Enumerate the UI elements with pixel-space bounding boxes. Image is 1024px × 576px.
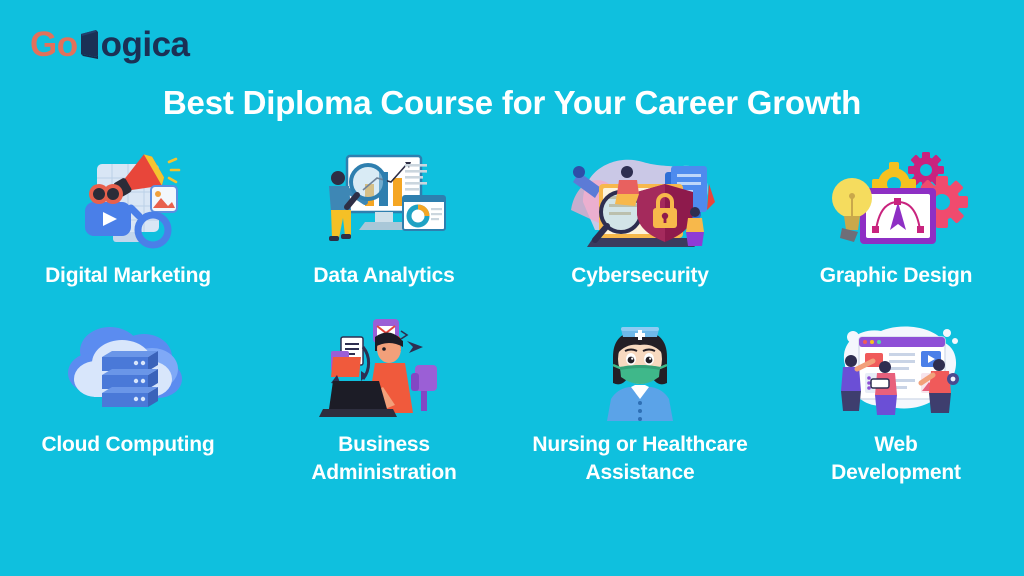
course-card-cybersecurity[interactable]: Cybersecurity: [512, 150, 768, 315]
course-card-graphic-design[interactable]: Graphic Design: [768, 150, 1024, 315]
course-label: Cloud Computing: [41, 431, 214, 459]
shield-padlock-laptop-icon: [576, 150, 704, 254]
brand-name-prefix: Go: [30, 27, 78, 62]
megaphone-marketing-icon: [64, 150, 192, 254]
course-label: Business Administration: [311, 431, 456, 486]
course-card-data-analytics[interactable]: Data Analytics: [256, 150, 512, 315]
brand-name-suffix: ogica: [101, 27, 190, 62]
brand-logo-text: Go ogica: [30, 27, 190, 62]
nurse-mask-icon: [576, 315, 704, 423]
book-glyph-icon: [79, 30, 100, 60]
office-worker-laptop-icon: [320, 315, 448, 423]
course-card-nursing-healthcare[interactable]: Nursing or Healthcare Assistance: [512, 315, 768, 505]
course-label: Web Development: [831, 431, 961, 486]
course-label: Data Analytics: [313, 262, 454, 290]
course-label: Digital Marketing: [45, 262, 211, 290]
course-label: Cybersecurity: [571, 262, 708, 290]
course-label: Graphic Design: [820, 262, 972, 290]
course-card-digital-marketing[interactable]: Digital Marketing: [0, 150, 256, 315]
course-card-web-development[interactable]: Web Development: [768, 315, 1024, 505]
course-label: Nursing or Healthcare Assistance: [532, 431, 747, 486]
course-grid: Digital Marketing: [0, 150, 1024, 505]
course-row-2: Cloud Computing: [0, 315, 1024, 505]
course-card-business-administration[interactable]: Business Administration: [256, 315, 512, 505]
web-builder-browser-icon: [832, 315, 960, 423]
lightbulb-pen-tool-icon: [832, 150, 960, 254]
cloud-server-icon: [64, 315, 192, 423]
course-card-cloud-computing[interactable]: Cloud Computing: [0, 315, 256, 505]
brand-logo[interactable]: Go ogica: [30, 22, 190, 66]
course-row-1: Digital Marketing: [0, 150, 1024, 315]
page-title: Best Diploma Course for Your Career Grow…: [0, 84, 1024, 122]
analytics-chart-icon: [320, 150, 448, 254]
